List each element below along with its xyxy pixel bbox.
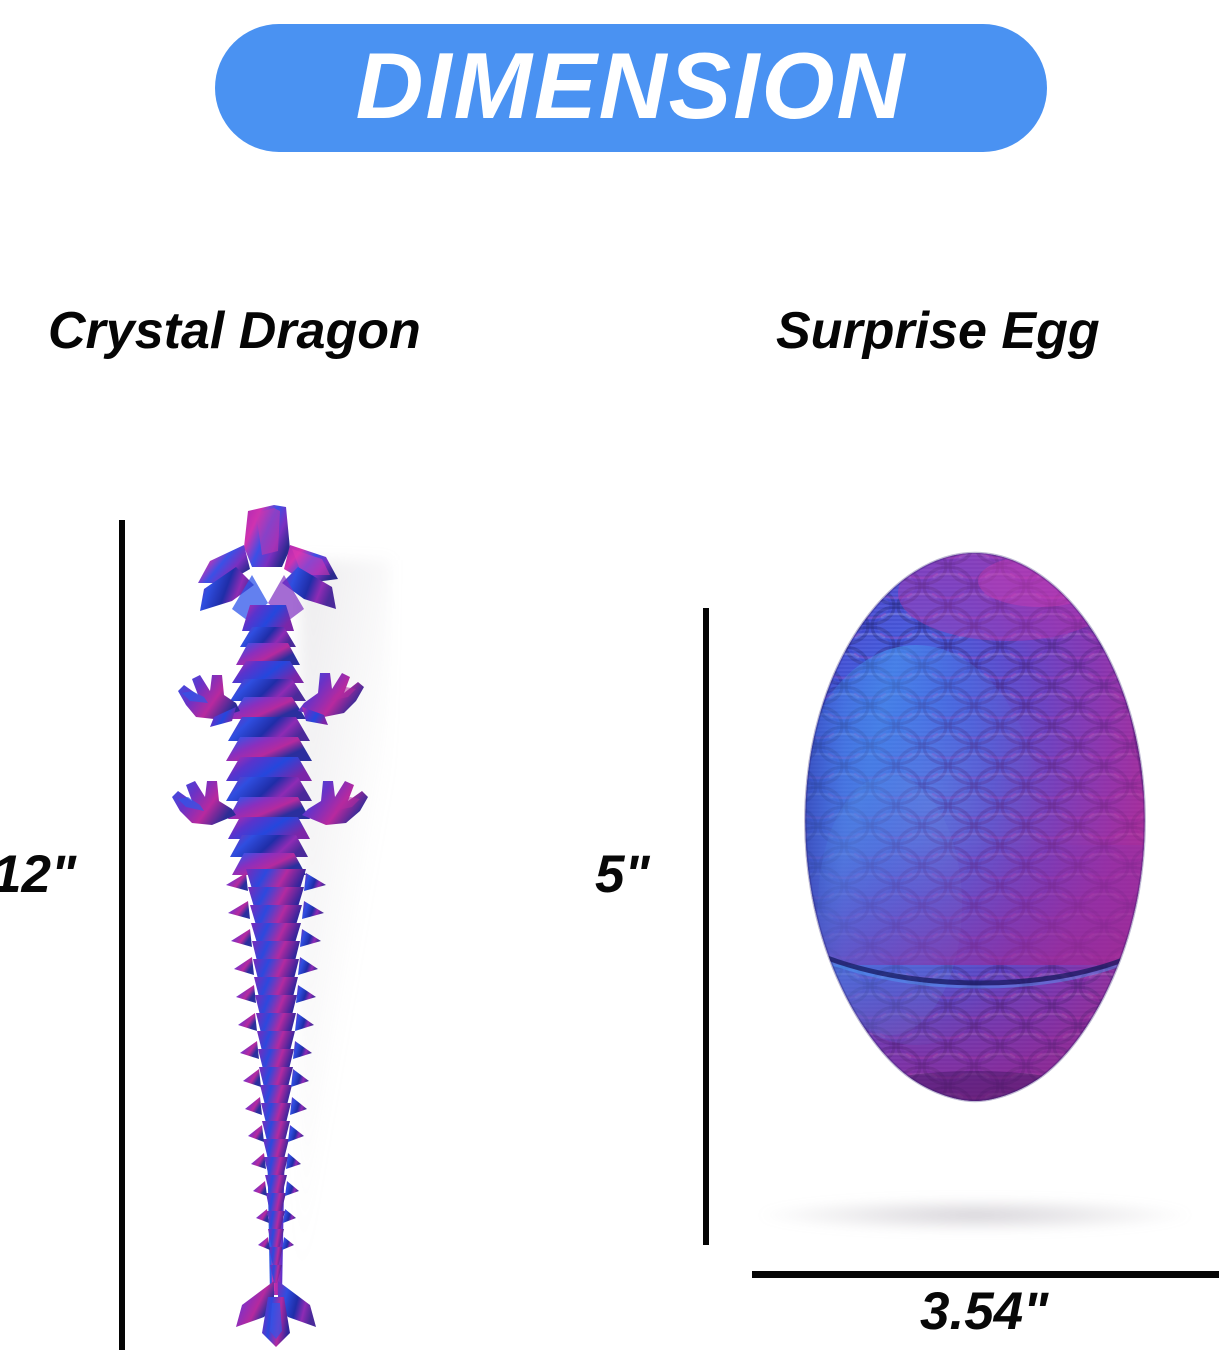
egg-width-rule xyxy=(752,1271,1219,1278)
dragon-head xyxy=(198,505,338,631)
dragon-height-rule xyxy=(119,520,125,1350)
dimension-infographic: DIMENSION Crystal Dragon Surprise Egg 12… xyxy=(0,0,1219,1357)
dragon-height-label: 12" xyxy=(0,848,76,901)
header-pill: DIMENSION xyxy=(215,24,1047,152)
egg-height-label: 5" xyxy=(595,848,650,901)
dragon-body-segments xyxy=(172,627,368,875)
dragon-tail xyxy=(226,869,326,1347)
egg-width-label: 3.54" xyxy=(920,1285,1048,1338)
product-caption-egg: Surprise Egg xyxy=(776,305,1100,357)
egg-height-rule xyxy=(703,608,709,1245)
product-caption-dragon: Crystal Dragon xyxy=(48,305,421,357)
egg-shell xyxy=(740,545,1210,1235)
surprise-egg-figure xyxy=(740,545,1210,1235)
crystal-dragon-figure xyxy=(170,505,385,1350)
page-title: DIMENSION xyxy=(356,39,907,133)
